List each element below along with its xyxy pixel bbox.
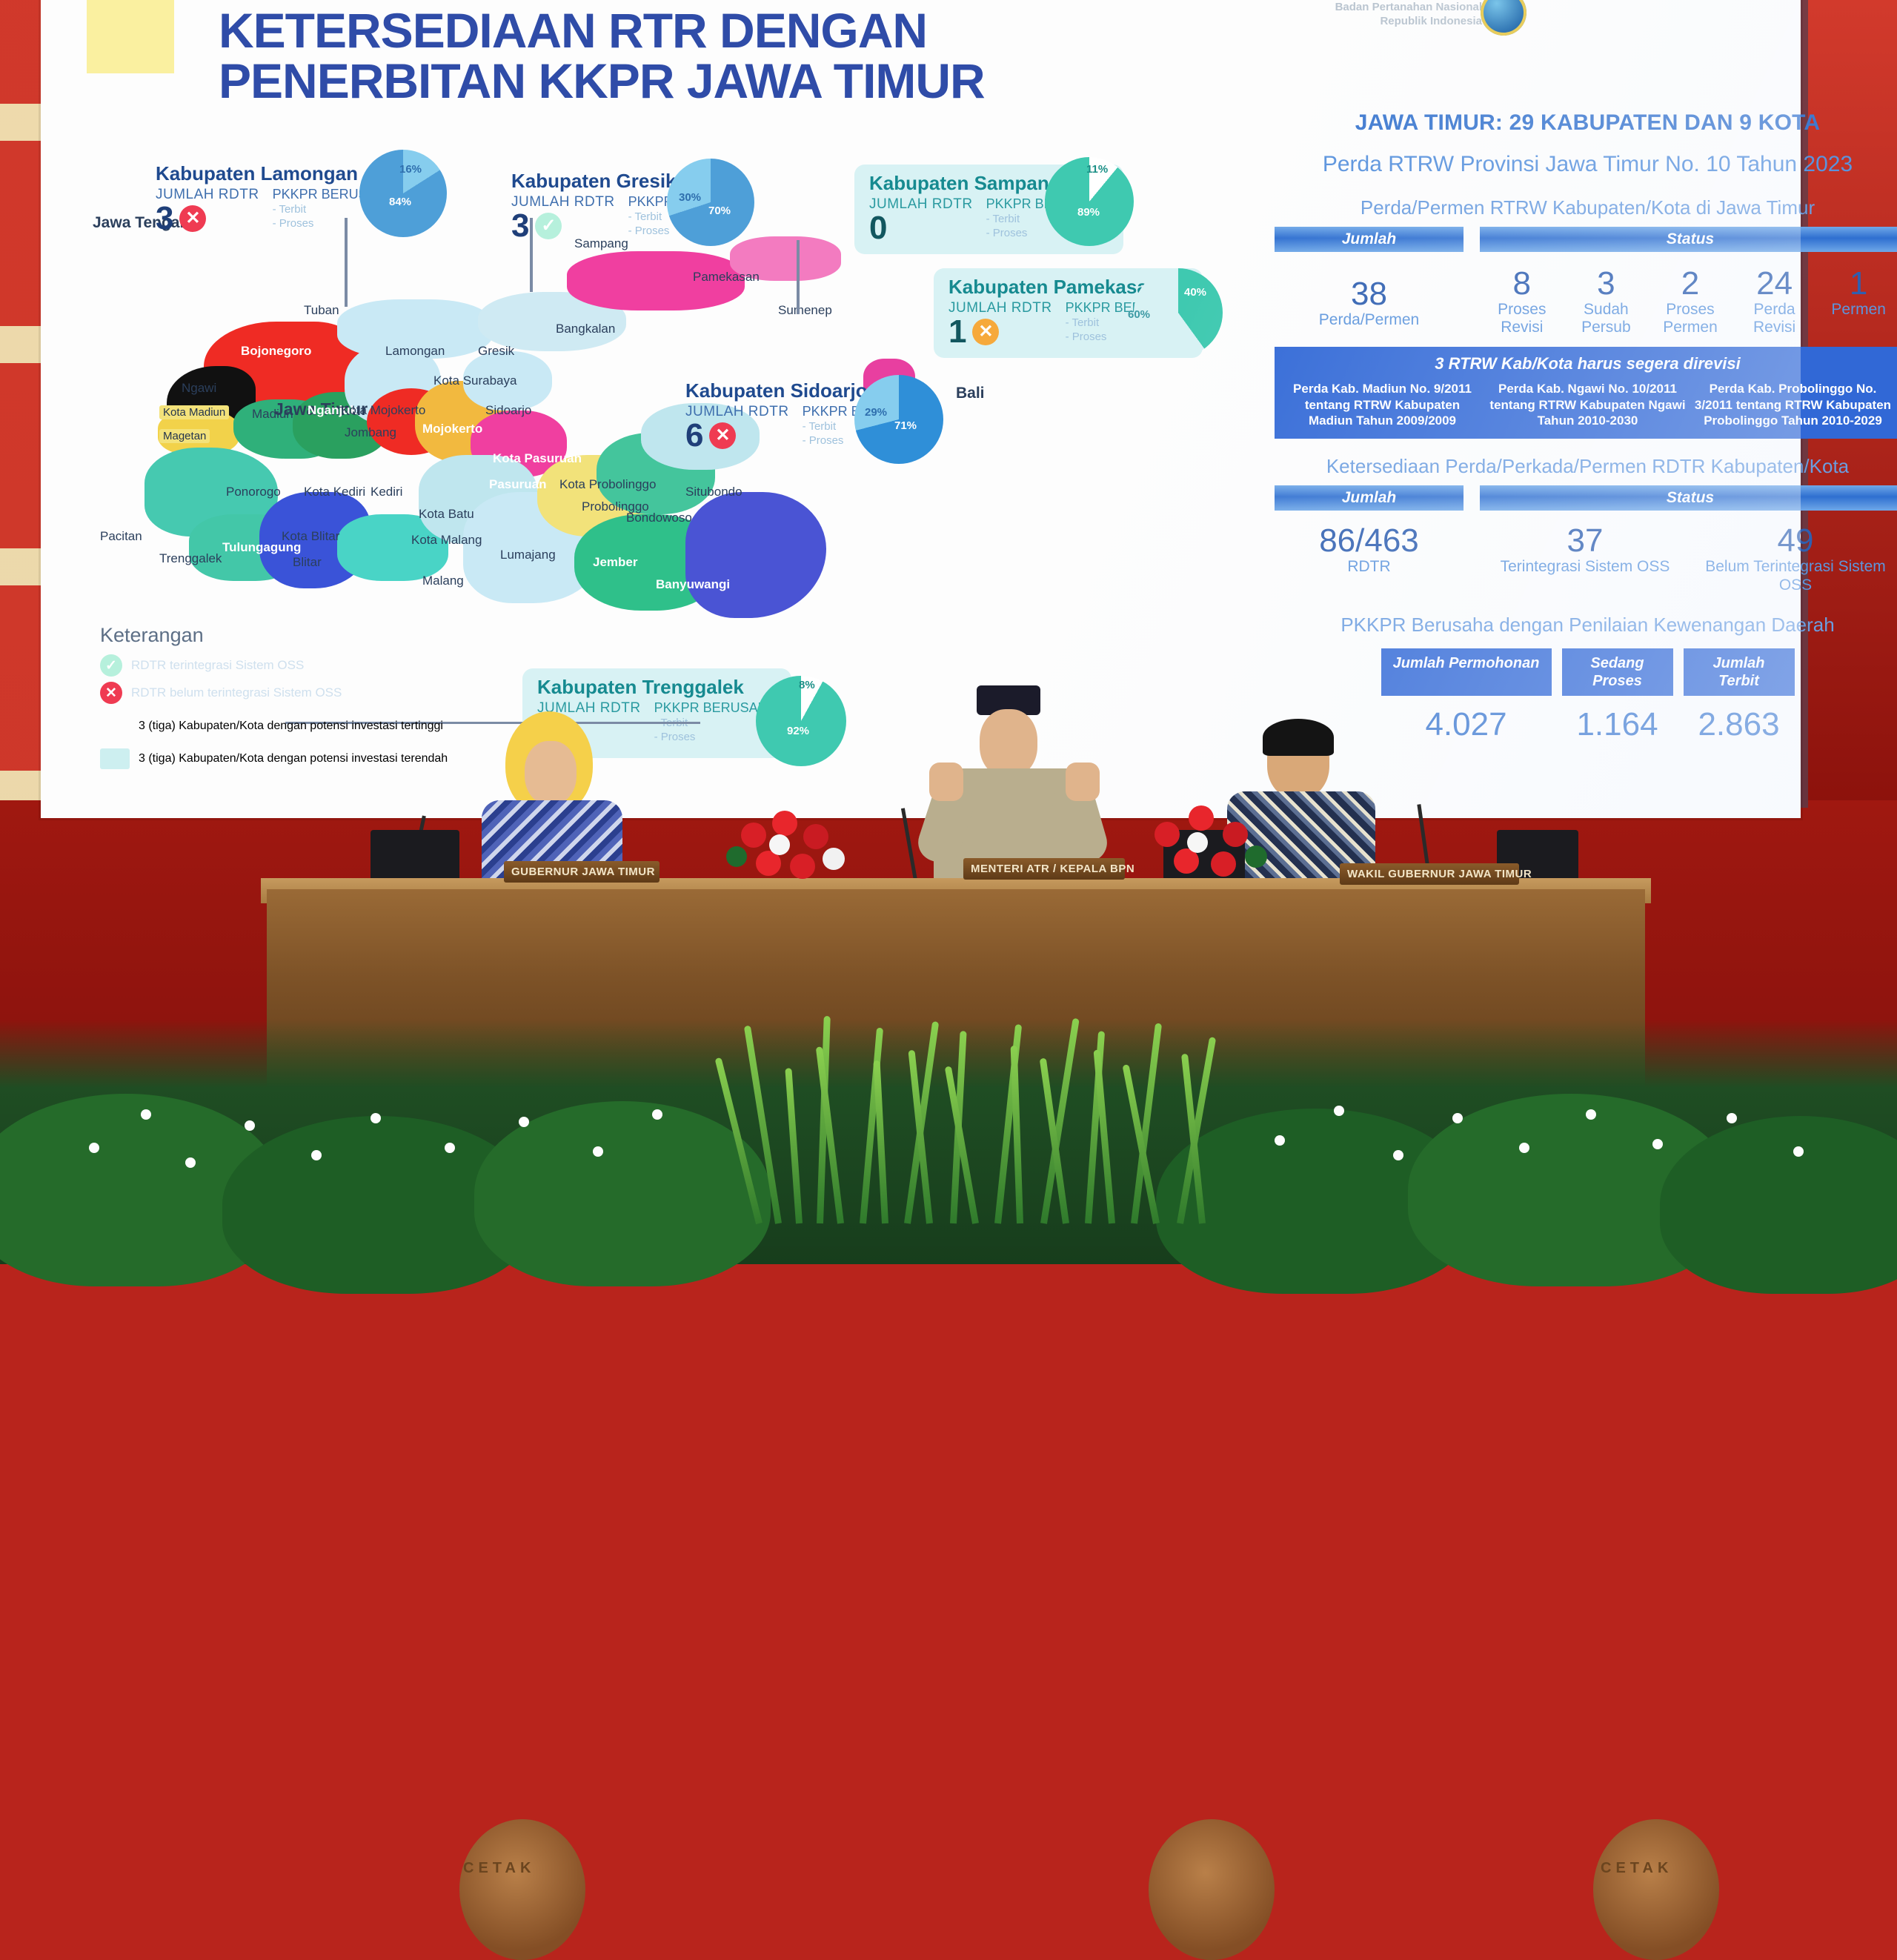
map-label-madiun: Madiun xyxy=(252,407,293,422)
x-circle-icon: ✕ xyxy=(972,319,999,345)
hand-right xyxy=(1066,763,1100,801)
flower-arrangement-right xyxy=(1141,804,1297,889)
pie-value-a: 11% xyxy=(1086,163,1108,176)
map-label-ponorogo: Ponorogo xyxy=(226,485,281,499)
pie-value-a: 30% xyxy=(679,191,701,204)
map-label-trenggalek: Trenggalek xyxy=(159,551,222,566)
map-label-kota-kediri: Kota Kediri xyxy=(304,485,365,499)
revisi-item-1: Perda Kab. Ngawi No. 10/2011 tentang RTR… xyxy=(1489,381,1687,428)
map-label-lumajang: Lumajang xyxy=(500,548,556,562)
section3-title: PKKPR Berusaha dengan Penilaian Kewenang… xyxy=(1275,614,1897,637)
connector-arrow-lamongan xyxy=(345,218,348,307)
rtrw-status-header: Status xyxy=(1480,227,1897,252)
pie-value-b: 89% xyxy=(1077,206,1100,219)
section1-title: Perda/Permen RTRW Kabupaten/Kota di Jawa… xyxy=(1275,196,1897,219)
pie-value-b: 70% xyxy=(708,205,731,217)
legend-text: 3 (tiga) Kabupaten/Kota dengan potensi i… xyxy=(139,720,443,733)
pie-chart-trenggalek: 8% 92% xyxy=(756,676,846,766)
map-label-gresik: Gresik xyxy=(478,344,514,359)
face xyxy=(525,741,577,805)
card-jumlah-value: 1 xyxy=(948,316,966,348)
rdtr-status-item-1: 49 Belum Terintegrasi Sistem OSS xyxy=(1690,524,1897,594)
rdtr-status-label: Belum Terintegrasi Sistem OSS xyxy=(1690,558,1897,594)
rdtr-status-header: Status xyxy=(1480,485,1897,511)
map-label-blitar: Blitar xyxy=(293,555,322,570)
status-value: 24 xyxy=(1732,267,1817,301)
map-label-tuban: Tuban xyxy=(304,303,339,318)
legend-keterangan: Keterangan ✓ RDTR terintegrasi Sistem OS… xyxy=(100,624,559,769)
status-value: 1 xyxy=(1816,267,1897,301)
map-region-banyuwangi xyxy=(685,492,826,618)
pkkpr-value-2: 2.863 xyxy=(1684,706,1795,743)
status-item-4: 1 Permen xyxy=(1816,267,1897,336)
status-label: Permen xyxy=(1816,301,1897,319)
status-label: Perda Revisi xyxy=(1732,301,1817,336)
status-item-0: 8 Proses Revisi xyxy=(1480,267,1564,336)
slide-title-line2: PENERBITAN KKPR JAWA TIMUR xyxy=(219,56,1315,107)
ornamental-grass xyxy=(756,1016,1215,1223)
check-circle-icon: ✓ xyxy=(535,213,562,239)
map-label-jember: Jember xyxy=(593,555,637,570)
card-jumlah-value: 3 xyxy=(156,203,173,234)
status-label: Proses Permen xyxy=(1648,301,1732,336)
map-label-kota-mojokerto: Kota Mojokerto xyxy=(341,403,425,418)
map-label-kota-surabaya: Kota Surabaya xyxy=(433,373,516,388)
pkkpr-headers: Jumlah Permohonan Sedang Proses Jumlah T… xyxy=(1275,648,1897,696)
desk-carving-left xyxy=(459,1819,585,1960)
pie-chart-pamekasan: 40% 60% xyxy=(1134,268,1223,357)
status-item-1: 3 Sudah Persub xyxy=(1564,267,1649,336)
pie-value-a: 29% xyxy=(865,406,887,419)
status-item-3: 24 Perda Revisi xyxy=(1732,267,1817,336)
rtrw-jumlah-label: Perda/Permen xyxy=(1319,311,1419,329)
legend-text: RDTR terintegrasi Sistem OSS xyxy=(131,658,304,673)
pie-value-b: 71% xyxy=(894,419,917,432)
map-label-pamekasan: Pamekasan xyxy=(693,270,760,285)
revisi-title: 3 RTRW Kab/Kota harus segera direvisi xyxy=(1283,354,1892,373)
rtrw-table: Jumlah 38 Perda/Permen Status 8 Proses R… xyxy=(1275,227,1897,336)
face xyxy=(980,709,1037,777)
pie-chart-lamongan: 16% 84% xyxy=(359,150,447,237)
slide-title: KETERSEDIAAN RTR DENGAN PENERBITAN KKPR … xyxy=(219,6,1315,107)
status-value: 2 xyxy=(1648,267,1732,301)
connector-arrow-sampang xyxy=(797,240,800,314)
pkkpr-bar-0: Jumlah Permohonan xyxy=(1381,648,1552,696)
ministry-logo: Kementerian Agraria dan Tata Ruang/ Bada… xyxy=(1245,0,1556,28)
map-label-situbondo: Situbondo xyxy=(685,485,742,499)
statistics-panel: JAWA TIMUR: 29 KABUPATEN DAN 9 KOTA Perd… xyxy=(1275,110,1897,743)
rdtr-status-value: 37 xyxy=(1480,524,1690,558)
legend-item-0: ✓ RDTR terintegrasi Sistem OSS xyxy=(100,654,559,677)
rdtr-table: Jumlah 86/463 RDTR Status 37 Terintegras… xyxy=(1275,485,1897,594)
status-item-2: 2 Proses Permen xyxy=(1648,267,1732,336)
map-label-ngawi: Ngawi xyxy=(182,381,216,396)
pie-value-a: 16% xyxy=(399,163,422,176)
revisi-item-2: Perda Kab. Probolinggo No. 3/2011 tentan… xyxy=(1694,381,1892,428)
pkkpr-values: 4.027 1.164 2.863 xyxy=(1275,706,1897,743)
section2-title: Ketersediaan Perda/Perkada/Permen RDTR K… xyxy=(1275,455,1897,478)
nameplate-wakil-gubernur: WAKIL GUBERNUR JAWA TIMUR xyxy=(1340,863,1519,885)
perda-provinsi-text: Perda RTRW Provinsi Jawa Timur No. 10 Ta… xyxy=(1275,152,1897,177)
legend-item-1: ✕ RDTR belum terintegrasi Sistem OSS xyxy=(100,682,559,704)
pie-value-a: 8% xyxy=(799,679,815,691)
desk-carving-text-left: CETAK xyxy=(463,1860,535,1877)
map-label-lamongan: Lamongan xyxy=(385,344,445,359)
map-label-banyuwangi: Banyuwangi xyxy=(656,577,730,592)
x-circle-icon: ✕ xyxy=(179,205,206,232)
map-label-sidoarjo: Sidoarjo xyxy=(485,403,531,418)
status-label: Sudah Persub xyxy=(1564,301,1649,336)
title-accent-block xyxy=(87,0,174,73)
status-value: 8 xyxy=(1480,267,1564,301)
card-jumlah-value: 6 xyxy=(685,420,703,451)
map-label-kota-blitar: Kota Blitar xyxy=(282,529,339,544)
card-name: Kabupaten Lamongan xyxy=(156,162,395,185)
map-label-bali: Bali xyxy=(956,385,985,402)
pie-value-b: 40% xyxy=(1184,286,1206,299)
map-label-kota-pasuruan: Kota Pasuruan xyxy=(493,451,582,466)
revisi-item-0: Perda Kab. Madiun No. 9/2011 tentang RTR… xyxy=(1283,381,1481,428)
map-label-bondowoso: Bondowoso xyxy=(626,511,692,525)
rtrw-jumlah-header: Jumlah xyxy=(1275,227,1464,252)
card-jumlah-value: 3 xyxy=(511,210,529,242)
legend-text: 3 (tiga) Kabupaten/Kota dengan potensi i… xyxy=(139,752,448,765)
map-label-pacitan: Pacitan xyxy=(100,529,142,544)
map-label-mojokerto: Mojokerto xyxy=(422,422,482,436)
rdtr-jumlah-header: Jumlah xyxy=(1275,485,1464,511)
rdtr-jumlah-value: 86/463 xyxy=(1275,524,1464,558)
x-circle-icon: ✕ xyxy=(709,422,736,449)
legend-swatch-item-1: 3 (tiga) Kabupaten/Kota dengan potensi i… xyxy=(100,748,559,769)
connector-arrow-gresik xyxy=(530,218,533,292)
map-label-kota-batu: Kota Batu xyxy=(419,507,474,522)
nameplate-menteri: MENTERI ATR / KEPALA BPN xyxy=(963,858,1125,880)
x-circle-icon: ✕ xyxy=(100,682,122,704)
rtrw-jumlah-column: Jumlah 38 Perda/Permen xyxy=(1275,227,1464,329)
desk-carving-right xyxy=(1593,1819,1719,1960)
pie-chart-sampang: 11% 89% xyxy=(1045,157,1134,246)
revisi-callout: 3 RTRW Kab/Kota harus segera direvisi Pe… xyxy=(1275,347,1897,439)
pkkpr-bar-2: Jumlah Terbit xyxy=(1684,648,1795,696)
rdtr-status-value: 49 xyxy=(1690,524,1897,558)
legend-swatch-item-0: 3 (tiga) Kabupaten/Kota dengan potensi i… xyxy=(100,716,559,737)
pkkpr-bar-1: Sedang Proses xyxy=(1562,648,1673,696)
presentation-screen: KETERSEDIAAN RTR DENGAN PENERBITAN KKPR … xyxy=(41,0,1801,818)
status-label: Proses Revisi xyxy=(1480,301,1564,336)
pie-chart-gresik: 30% 70% xyxy=(667,159,754,246)
map-label-kota-malang: Kota Malang xyxy=(411,533,482,548)
stats-heading: JAWA TIMUR: 29 KABUPATEN DAN 9 KOTA xyxy=(1275,110,1897,136)
legend-title: Keterangan xyxy=(100,624,559,647)
nameplate-gubernur: GUBERNUR JAWA TIMUR xyxy=(504,861,660,883)
map-label-bojonegoro: Bojonegoro xyxy=(241,344,311,359)
flower-arrangement-left xyxy=(726,808,882,889)
rtrw-status-column: Status 8 Proses Revisi 3 Sudah Persub 2 … xyxy=(1480,227,1897,336)
rdtr-status-column: Status 37 Terintegrasi Sistem OSS 49 Bel… xyxy=(1480,485,1897,594)
map-label-jombang: Jombang xyxy=(345,425,396,440)
slide-title-line1: KETERSEDIAAN RTR DENGAN xyxy=(219,3,927,58)
pie-chart-sidoarjo: 29% 71% xyxy=(854,375,943,464)
map-label-malang: Malang xyxy=(422,574,464,588)
desk-carving-center xyxy=(1149,1819,1275,1960)
hand-left xyxy=(929,763,963,801)
rdtr-jumlah-column: Jumlah 86/463 RDTR xyxy=(1275,485,1464,576)
hair xyxy=(1263,719,1334,756)
pie-value-b: 92% xyxy=(787,725,809,737)
swatch-icon xyxy=(100,748,130,769)
map-label-magetan: Magetan xyxy=(159,429,210,443)
desk-monitor-left xyxy=(371,830,459,882)
rdtr-status-item-0: 37 Terintegrasi Sistem OSS xyxy=(1480,524,1690,594)
rdtr-status-label: Terintegrasi Sistem OSS xyxy=(1480,558,1690,576)
pkkpr-value-0: 4.027 xyxy=(1381,706,1552,743)
card-name: Kabupaten Trenggalek xyxy=(537,676,777,699)
map-label-pasuruan: Pasuruan xyxy=(489,477,546,492)
card-jumlah-value: 0 xyxy=(869,213,973,244)
status-value: 3 xyxy=(1564,267,1649,301)
rdtr-jumlah-label: RDTR xyxy=(1275,558,1464,576)
swatch-icon xyxy=(100,716,130,737)
legend-text: RDTR belum terintegrasi Sistem OSS xyxy=(131,685,342,700)
globe-logo-icon xyxy=(1481,0,1526,36)
map-label-kota-probolinggo: Kota Probolinggo xyxy=(559,477,656,492)
pie-value-b: 84% xyxy=(389,196,411,208)
desk-carving-text-right: CETAK xyxy=(1601,1860,1672,1877)
logo-line-3: Republik Indonesia xyxy=(1245,15,1482,29)
logo-line-2: Badan Pertanahan Nasional xyxy=(1245,1,1482,15)
check-circle-icon: ✓ xyxy=(100,654,122,677)
map-label-bangkalan: Bangkalan xyxy=(556,322,615,336)
rtrw-jumlah-value: 38 xyxy=(1319,277,1419,311)
map-label-sumenep: Sumenep xyxy=(778,303,832,318)
pie-value-a: 60% xyxy=(1128,308,1150,321)
map-label-kota-madiun: Kota Madiun xyxy=(159,405,229,419)
map-label-kediri: Kediri xyxy=(371,485,402,499)
pkkpr-value-1: 1.164 xyxy=(1562,706,1673,743)
